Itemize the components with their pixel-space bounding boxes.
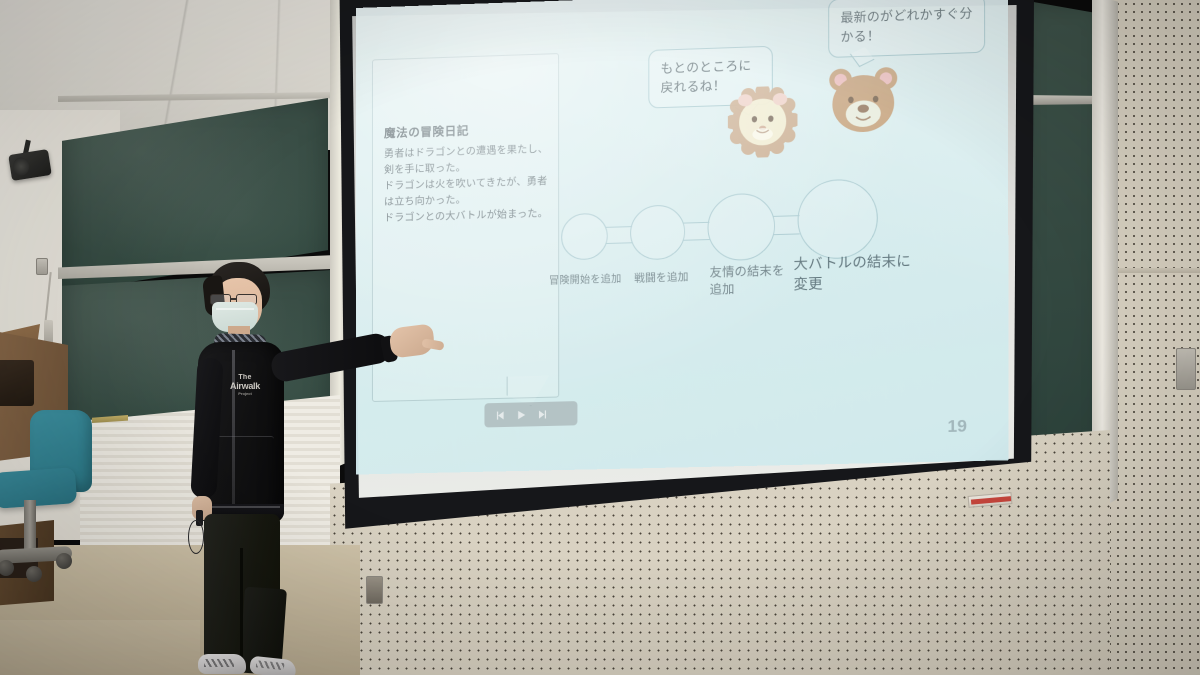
lion-character-icon <box>728 85 798 158</box>
speaker-cone <box>12 156 31 176</box>
classroom-presentation-photo: 魔法の冒険日記 勇者はドラゴンとの遭遇を果たし、剣を手に取った。 ドラゴンは火を… <box>0 0 1200 675</box>
timeline-label-2: 戦闘を追加 <box>634 269 716 285</box>
trouser-seam <box>240 548 243 666</box>
screen-warning-sticker <box>968 492 1013 508</box>
hoodie-logo: The Airwalk Project <box>224 374 266 400</box>
next-icon[interactable] <box>537 408 548 419</box>
presenter-right-shoe <box>249 656 297 675</box>
media-control-bar[interactable] <box>484 401 577 427</box>
timeline-link-1 <box>606 226 632 244</box>
projected-slide: 魔法の冒険日記 勇者はドラゴンとの遭遇を果たし、剣を手に取った。 ドラゴンは火を… <box>356 0 1009 475</box>
office-chair-post <box>24 500 36 554</box>
timeline-link-3 <box>773 215 800 235</box>
speech-bubble-bear: 最新のがどれかすぐ分かる！ <box>828 0 985 58</box>
pointer-strap <box>188 520 204 554</box>
glasses-bridge <box>231 298 237 300</box>
timeline-node-1[interactable] <box>561 213 608 261</box>
office-chair-seat[interactable] <box>0 467 77 509</box>
presenter-left-shoe <box>198 654 246 674</box>
play-icon[interactable] <box>516 409 527 420</box>
timeline-node-2[interactable] <box>630 204 685 260</box>
floor-foreground <box>0 620 200 675</box>
hoodie-logo-line3: Project <box>224 390 266 398</box>
chair-caster <box>26 566 42 582</box>
wall-cable-box <box>44 320 53 344</box>
hoodie-logo-line2: Airwalk <box>224 382 266 390</box>
timeline-node-4[interactable] <box>798 178 878 260</box>
note-title: 魔法の冒険日記 <box>384 122 469 141</box>
slide-page-number: 19 <box>947 416 967 437</box>
timeline-link-2 <box>683 222 710 241</box>
podium-equipment <box>0 360 34 406</box>
timeline-label-1: 冒険開始を追加 <box>549 272 638 289</box>
prev-icon[interactable] <box>495 409 506 420</box>
projected-slide-wrapper: 魔法の冒険日記 勇者はドラゴンとの遭遇を果たし、剣を手に取った。 ドラゴンは火を… <box>356 0 1009 475</box>
speech-bubble-bear-text: 最新のがどれかすぐ分かる！ <box>841 6 973 44</box>
wall-switch-plate[interactable] <box>36 258 48 275</box>
timeline-label-3: 友情の結末を追加 <box>710 262 786 299</box>
note-body: 勇者はドラゴンとの遭遇を果たし、剣を手に取った。 ドラゴンは火を吹いてきたが、勇… <box>384 142 555 228</box>
bear-character-icon <box>826 62 900 138</box>
presenter-right-arm <box>269 331 393 383</box>
wall-control-plate[interactable] <box>1176 348 1196 390</box>
presenter: The Airwalk Project <box>176 258 446 675</box>
timeline-node-3[interactable] <box>707 193 775 262</box>
chair-caster <box>56 553 72 569</box>
timeline-label-4: 大バトルの結末に変更 <box>794 251 913 295</box>
